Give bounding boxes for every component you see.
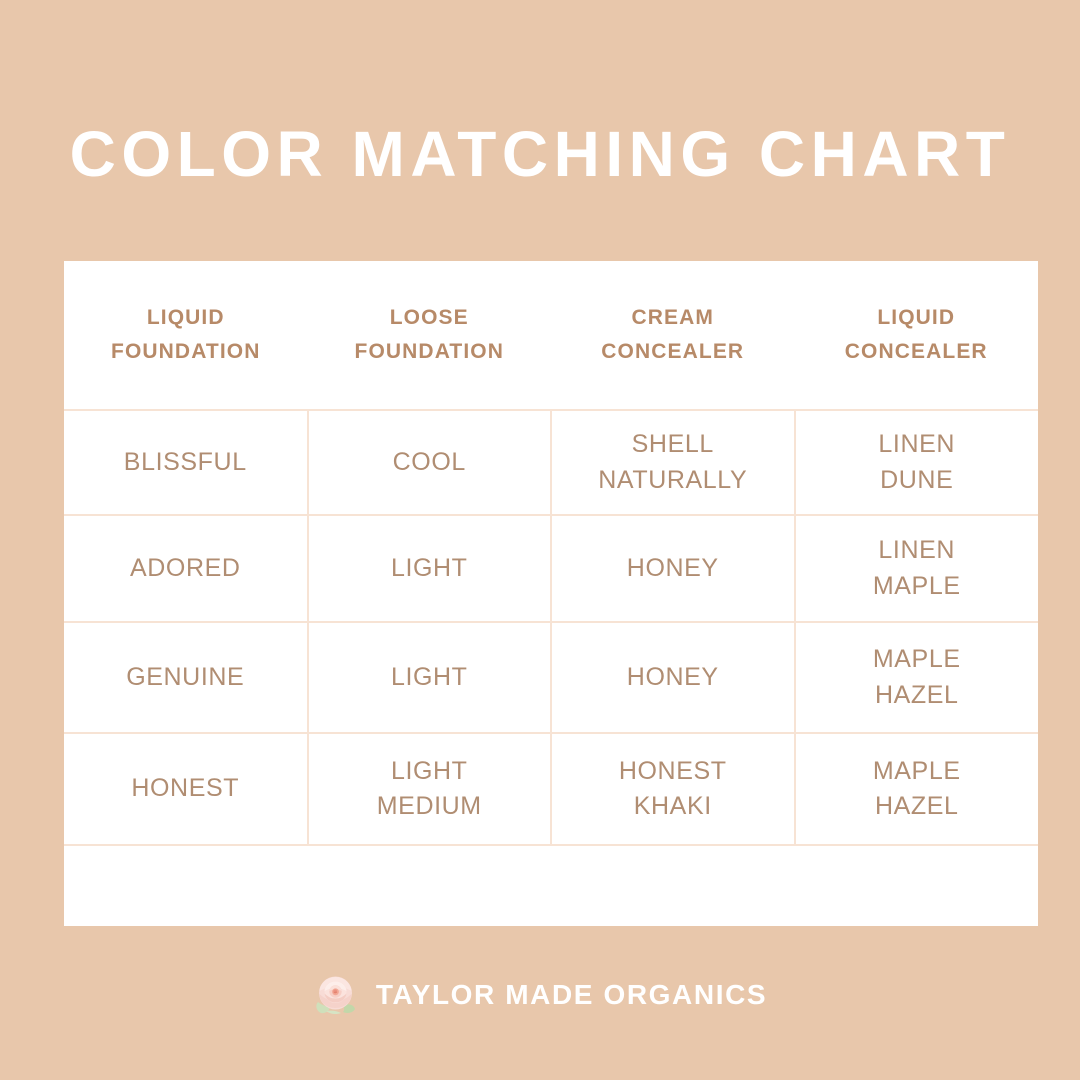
cell-loose-foundation: COOL [308,410,552,515]
cell-cream-concealer: HONEY [551,622,795,733]
cell-line-1: LIGHT [315,551,545,587]
cell-line-1: MAPLE [802,642,1033,678]
cell-line-1: HONEST [70,771,301,807]
chart-card: LIQUID FOUNDATION LOOSE FOUNDATION CREAM… [64,261,1038,926]
cell-line-2: DUNE [802,463,1033,499]
table-row: HONEST LIGHT MEDIUM HONEST KHAKI MAPLE H… [64,733,1038,845]
table-header: LIQUID FOUNDATION LOOSE FOUNDATION CREAM… [64,261,1038,410]
table-spacer-row [64,845,1038,926]
cell-line-1: HONEY [558,551,788,587]
cell-line-2: NATURALLY [558,463,788,499]
brand-name: TAYLOR MADE ORGANICS [376,981,767,1009]
cell-loose-foundation: LIGHT [308,515,552,622]
column-header-cream-concealer: CREAM CONCEALER [551,261,795,410]
column-header-line-2: FOUNDATION [70,335,302,369]
column-header-line-2: CONCEALER [801,335,1033,369]
cell-line-2: MAPLE [802,569,1033,605]
table-row: GENUINE LIGHT HONEY MAPLE HAZEL [64,622,1038,733]
cell-line-1: MAPLE [802,754,1033,790]
cell-loose-foundation: LIGHT [308,622,552,733]
spacer-cell [551,845,795,926]
column-header-line-2: FOUNDATION [314,335,546,369]
cell-line-1: LINEN [802,427,1033,463]
column-header-loose-foundation: LOOSE FOUNDATION [308,261,552,410]
cell-liquid-foundation: ADORED [64,515,308,622]
footer: TAYLOR MADE ORGANICS [0,967,1080,1023]
column-header-line-1: LIQUID [801,301,1033,335]
cell-cream-concealer: HONEST KHAKI [551,733,795,845]
cell-cream-concealer: SHELL NATURALLY [551,410,795,515]
spacer-cell [64,845,308,926]
column-header-liquid-concealer: LIQUID CONCEALER [795,261,1039,410]
column-header-line-2: CONCEALER [557,335,789,369]
cell-line-2: KHAKI [558,789,788,825]
rose-icon [313,972,359,1018]
cell-line-1: GENUINE [70,660,301,696]
cell-liquid-concealer: LINEN DUNE [795,410,1039,515]
cell-line-1: LIGHT [315,754,545,790]
spacer-cell [795,845,1039,926]
cell-line-1: ADORED [70,551,301,587]
cell-liquid-concealer: MAPLE HAZEL [795,622,1039,733]
cell-liquid-concealer: MAPLE HAZEL [795,733,1039,845]
column-header-liquid-foundation: LIQUID FOUNDATION [64,261,308,410]
cell-line-1: LINEN [802,533,1033,569]
color-matching-chart-page: COLOR MATCHING CHART LIQUID FOUNDATION L… [0,0,1080,1080]
cell-loose-foundation: LIGHT MEDIUM [308,733,552,845]
cell-line-1: SHELL [558,427,788,463]
cell-line-1: BLISSFUL [70,445,301,481]
color-matching-table: LIQUID FOUNDATION LOOSE FOUNDATION CREAM… [64,261,1038,926]
cell-liquid-foundation: HONEST [64,733,308,845]
spacer-cell [308,845,552,926]
table-row: ADORED LIGHT HONEY LINEN MAPLE [64,515,1038,622]
table-body: BLISSFUL COOL SHELL NATURALLY LINEN DUNE [64,410,1038,926]
table-header-row: LIQUID FOUNDATION LOOSE FOUNDATION CREAM… [64,261,1038,410]
cell-line-2: HAZEL [802,678,1033,714]
page-title: COLOR MATCHING CHART [0,122,1080,186]
column-header-line-1: LOOSE [314,301,546,335]
cell-liquid-foundation: BLISSFUL [64,410,308,515]
table-row: BLISSFUL COOL SHELL NATURALLY LINEN DUNE [64,410,1038,515]
cell-line-1: LIGHT [315,660,545,696]
cell-line-2: HAZEL [802,789,1033,825]
cell-line-2: MEDIUM [315,789,545,825]
cell-line-1: HONEY [558,660,788,696]
cell-liquid-concealer: LINEN MAPLE [795,515,1039,622]
column-header-line-1: LIQUID [70,301,302,335]
cell-line-1: COOL [315,445,545,481]
cell-cream-concealer: HONEY [551,515,795,622]
column-header-line-1: CREAM [557,301,789,335]
cell-liquid-foundation: GENUINE [64,622,308,733]
cell-line-1: HONEST [558,754,788,790]
